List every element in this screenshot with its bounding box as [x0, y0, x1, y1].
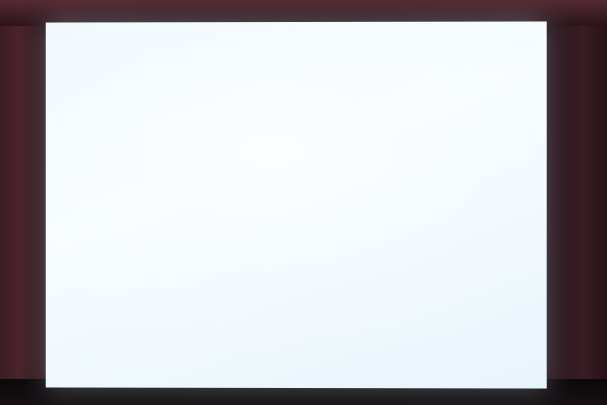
leader-line-stage3 — [223, 318, 345, 319]
helper-person-head-shape — [132, 260, 142, 269]
facebook-icon[interactable]: f — [174, 325, 179, 330]
dog-shape — [145, 278, 161, 287]
callout-inner-stage1: 感覺到平靜、能夠思考、想要親近人、與人互動 — [455, 66, 546, 112]
signature: Jenny — [93, 340, 151, 358]
ladder-rung — [91, 290, 115, 294]
stage-tag: 第二階段 — [230, 202, 270, 215]
callout-outer-stage1: 放鬆、良好的眼神交會、微笑、音調有起伏、能夠與人互動、健康地談性 — [345, 118, 443, 176]
slide-content: 三層反應 外在表現 內在感覺 — [46, 21, 547, 388]
callout-outer-stage3: 拒絕接收到性相關資訊、逃避與人接觸、抽離日常生活如缺課 — [345, 288, 443, 334]
collapsed-person-head-shape — [115, 268, 126, 278]
ladder-rung — [91, 194, 115, 198]
credit-text: Illustration copyright © 2019 Jenny Chen… — [69, 326, 171, 330]
shelf-line — [157, 276, 201, 278]
illustration-panel-freeze — [66, 254, 213, 320]
stage-tag: 第三階段 — [230, 263, 270, 276]
stage-block-fight-flight: 第二階段 攻擊或逃跑：感到危險 (Fight or Flight) — [230, 198, 360, 244]
lamp-shade-shape — [198, 122, 210, 131]
leader-line-stage2 — [223, 243, 345, 244]
first-aid-cross-icon — [189, 296, 195, 298]
presentation-photo: 三層反應 外在表現 內在感覺 — [0, 0, 607, 405]
panel-floor — [66, 304, 213, 320]
ladder-rung — [91, 312, 115, 316]
impact-mark-shape — [127, 189, 134, 196]
page-title: 三層反應 — [103, 54, 207, 88]
angry-person-shape — [135, 199, 147, 227]
panel-floor — [66, 162, 213, 178]
ladder-rung — [91, 242, 115, 246]
doorway-shape — [181, 189, 203, 233]
ladder-rung — [91, 266, 115, 270]
ladder-rung — [91, 122, 115, 126]
illustration-panel-fight-flight — [66, 183, 213, 249]
stage-block-social-engagement: 第一階段 社會連結：感到安全 (Social Engagement) — [230, 128, 360, 174]
stage-title-cn: 僵呆、凍結、關閉：感到生命威脅 — [230, 279, 360, 307]
ladder-rung — [91, 218, 115, 222]
projection-screen: 三層反應 外在表現 內在感覺 — [46, 21, 547, 388]
dog-shape — [157, 146, 175, 158]
fleeing-person-shape — [165, 199, 178, 227]
illustration-panel-social-engagement — [66, 112, 213, 178]
fleeing-person-head-shape — [164, 192, 175, 202]
copyright-note: 版權所有 請勿轉載 — [84, 358, 156, 368]
helper-person-shape — [133, 266, 145, 288]
armchair-shape — [175, 132, 197, 162]
person-shape — [135, 128, 147, 156]
callout-inner-stage2: 感到身體充滿能量、焦躁不安 — [455, 172, 546, 206]
reference-box — [474, 346, 536, 374]
books-shape — [125, 120, 139, 126]
column-divider — [445, 40, 446, 341]
column-heading-inner: 內在感覺 — [460, 46, 516, 65]
leader-line-stage1 — [223, 177, 345, 178]
leader-dot — [344, 176, 347, 179]
ladder-rung — [91, 170, 115, 174]
callout-inner-stage3: 感到沉重無力、麻痺、內在失衡 — [455, 242, 546, 276]
stage-title-cn: 攻擊或逃跑：感到危險 — [230, 217, 360, 231]
bat-shape — [147, 201, 161, 209]
ladder-graphic — [90, 108, 116, 322]
stage-title-cn: 社會連結：感到安全 — [230, 147, 360, 161]
illustration-credit: Illustration copyright © 2019 Jenny Chen… — [66, 322, 213, 334]
stage-block-freeze: 第三階段 僵呆、凍結、關閉：感到生命威脅 (Freeze, shut-down) — [230, 260, 360, 320]
facebook-page-name: Jenny is drawing 珍妮在畫畫 — [182, 326, 230, 330]
stage-title-en: (Social Engagement) — [230, 162, 360, 173]
stage-tag: 第一階段 — [230, 132, 270, 145]
callout-outer-stage2: 攻擊性行為，如報復性公審、頻繁結識伴侶、以性恥笑別人 — [345, 207, 443, 253]
panel-floor — [66, 233, 213, 249]
lamp-pole-shape — [203, 130, 205, 164]
ladder-rung — [91, 146, 115, 150]
illustration — [66, 112, 213, 320]
column-heading-outer: 外在表現 — [365, 86, 421, 105]
stage-title-en: (Fight or Flight) — [230, 232, 360, 243]
